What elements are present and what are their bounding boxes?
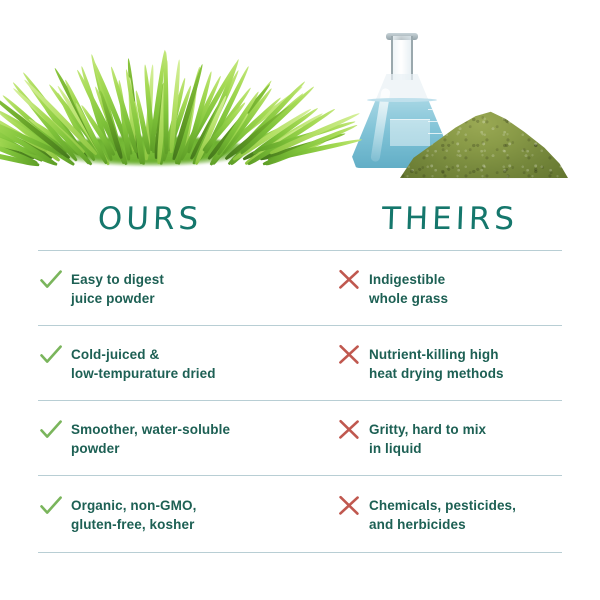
cell-theirs: Nutrient-killing high heat drying method… <box>300 343 562 383</box>
cross-icon <box>336 493 362 519</box>
cell-theirs-text: Gritty, hard to mix in liquid <box>369 420 486 458</box>
cell-ours: Easy to digest juice powder <box>38 268 300 308</box>
hero-image-ours <box>0 0 300 196</box>
table-row: Smoother, water-soluble powderGritty, ha… <box>38 401 562 475</box>
cell-ours: Smoother, water-soluble powder <box>38 418 300 458</box>
cross-icon <box>336 417 362 443</box>
table-body: Easy to digest juice powderIndigestible … <box>38 251 562 553</box>
flask-neck <box>391 36 413 80</box>
hero-image-theirs <box>300 0 600 196</box>
comparison-infographic: OURS THEIRS Easy to digest juice powderI… <box>0 0 600 600</box>
wheatgrass-illustration <box>18 46 282 172</box>
cell-theirs-text: Indigestible whole grass <box>369 270 448 308</box>
check-icon <box>38 267 64 293</box>
cell-theirs: Chemicals, pesticides, and herbicides <box>300 494 562 534</box>
heading-ours: OURS <box>0 196 301 242</box>
cell-theirs-text: Nutrient-killing high heat drying method… <box>369 345 504 383</box>
cell-theirs-text: Chemicals, pesticides, and herbicides <box>369 496 516 534</box>
green-powder-pile <box>400 102 568 178</box>
check-icon <box>38 417 64 443</box>
check-icon <box>38 493 64 519</box>
lab-illustration <box>322 14 578 184</box>
cell-ours-text: Smoother, water-soluble powder <box>71 420 230 458</box>
cross-icon <box>336 342 362 368</box>
cell-ours-text: Easy to digest juice powder <box>71 270 164 308</box>
heading-theirs: THEIRS <box>299 196 600 242</box>
powder-mound <box>400 106 568 178</box>
powder-texture <box>400 106 568 178</box>
hero-images <box>0 0 600 196</box>
check-icon <box>38 342 64 368</box>
cell-theirs: Indigestible whole grass <box>300 268 562 308</box>
cell-ours: Organic, non-GMO, gluten-free, kosher <box>38 494 300 534</box>
table-divider <box>38 552 562 553</box>
cell-theirs: Gritty, hard to mix in liquid <box>300 418 562 458</box>
cross-icon <box>336 267 362 293</box>
table-row: Organic, non-GMO, gluten-free, kosherChe… <box>38 476 562 552</box>
column-headings: OURS THEIRS <box>0 196 600 250</box>
table-row: Easy to digest juice powderIndigestible … <box>38 251 562 325</box>
comparison-table: Easy to digest juice powderIndigestible … <box>38 250 562 553</box>
table-row: Cold-juiced & low-tempurature driedNutri… <box>38 326 562 400</box>
cell-ours-text: Cold-juiced & low-tempurature dried <box>71 345 216 383</box>
cell-ours-text: Organic, non-GMO, gluten-free, kosher <box>71 496 196 534</box>
cell-ours: Cold-juiced & low-tempurature dried <box>38 343 300 383</box>
